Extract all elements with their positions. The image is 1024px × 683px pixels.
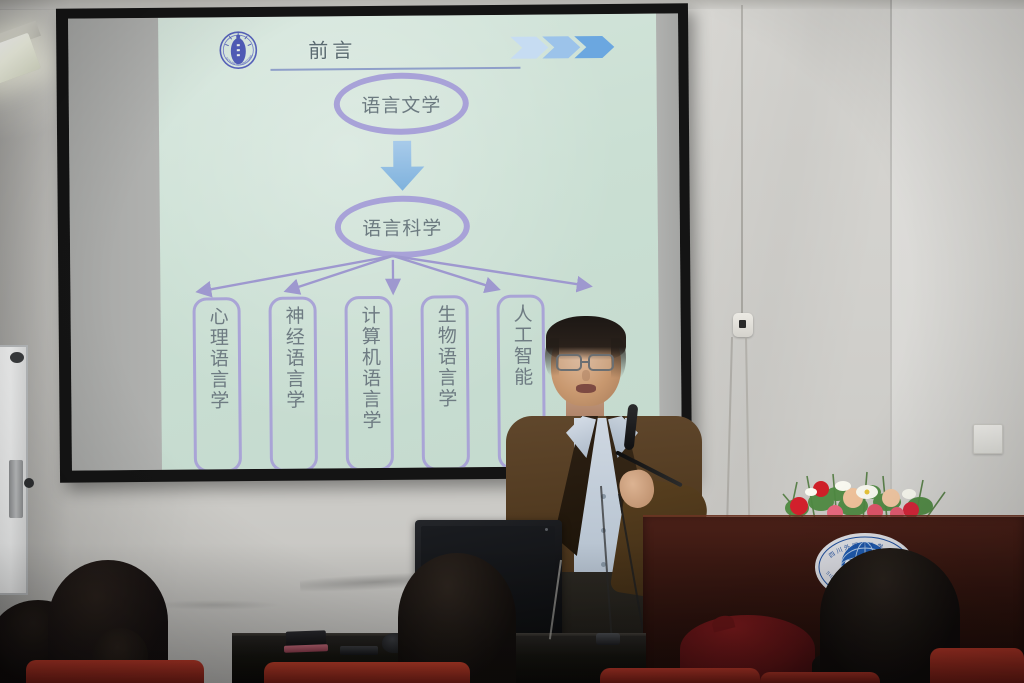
floral-arrangement	[775, 466, 950, 522]
branch-box-3: 计算机语言学	[344, 296, 394, 470]
glasses-lens-right	[588, 354, 614, 371]
usb-adapter	[596, 633, 620, 645]
flow-node-top-label: 语言文学	[361, 90, 441, 118]
branch-box-1-label: 心理语言学	[207, 306, 228, 411]
chair-back-2	[264, 662, 470, 683]
university-seal-logo-icon: SICHUAN INTERNATIONAL UNIV	[218, 29, 258, 73]
flow-node-mid: 语言科学	[335, 195, 471, 258]
slide-title: 前言	[308, 34, 356, 63]
branch-box-2-label: 神经语言学	[283, 306, 304, 411]
flow-node-top: 语言文学	[334, 72, 470, 135]
glasses-bridge	[582, 361, 588, 363]
whiteboard-knob	[24, 478, 34, 488]
whiteboard-hinge	[9, 460, 23, 518]
chair-back-5	[760, 672, 880, 683]
glasses-lens-left	[556, 354, 582, 371]
letterbox-bar-left	[68, 18, 162, 471]
branch-box-1: 心理语言学	[192, 297, 242, 470]
wall-sensor-slot	[739, 320, 746, 328]
wall-scuff-mark-2	[150, 600, 280, 610]
phone-flat[interactable]	[340, 646, 378, 655]
whiteboard-clip	[10, 352, 24, 363]
chair-back-4	[930, 648, 1024, 683]
chair-back-3	[600, 668, 760, 683]
branch-box-4: 生物语言学	[420, 295, 470, 470]
presenter-nose	[582, 370, 590, 381]
slide-title-underline	[270, 67, 520, 71]
down-arrow-icon	[374, 141, 430, 193]
flow-node-mid-label: 语言科学	[362, 213, 442, 241]
lecture-hall-scene: SICHUAN INTERNATIONAL UNIV 前言 语言文学	[0, 0, 1024, 683]
branch-box-4-label: 生物语言学	[435, 304, 456, 409]
light-switch[interactable]	[973, 424, 1003, 454]
wall-cable-main	[741, 5, 743, 315]
branch-box-3-label: 计算机语言学	[359, 305, 380, 431]
branch-box-2: 神经语言学	[268, 297, 318, 470]
chevron-decoration	[510, 34, 630, 61]
monitor-power-led	[545, 528, 548, 531]
presenter-mouth	[576, 384, 596, 393]
chair-back-1	[26, 660, 204, 683]
